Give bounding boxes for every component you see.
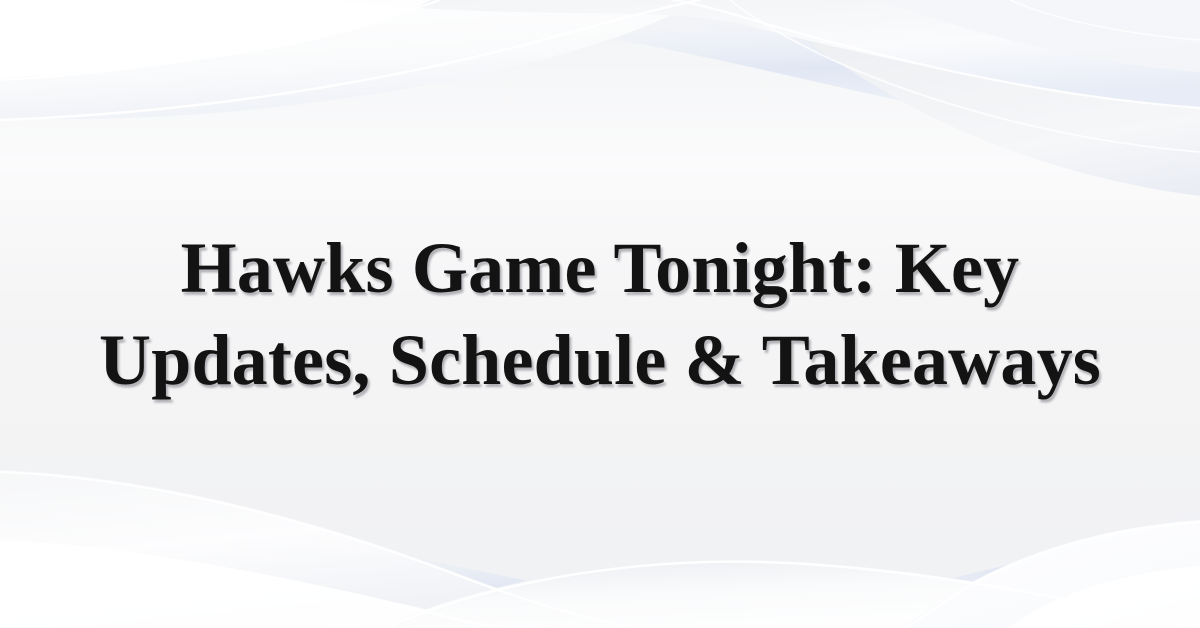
page-title: Hawks Game Tonight: Key Updates, Schedul… — [84, 222, 1116, 406]
banner-card: Hawks Game Tonight: Key Updates, Schedul… — [0, 0, 1200, 628]
title-container: Hawks Game Tonight: Key Updates, Schedul… — [0, 0, 1200, 628]
